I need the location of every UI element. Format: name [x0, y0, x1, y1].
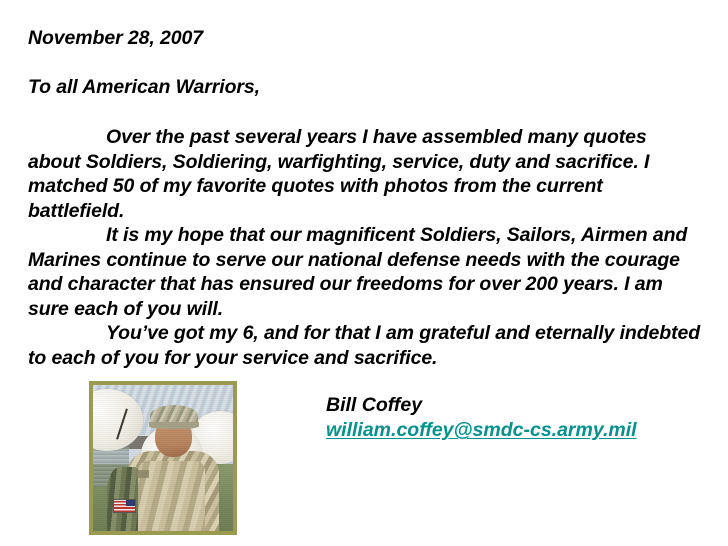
signature-block: Bill Coffey william.coffey@smdc-cs.army.…: [326, 393, 637, 443]
uniform-patch: [135, 470, 149, 479]
letter-salutation: To all American Warriors,: [28, 75, 704, 100]
cap-brim: [149, 422, 199, 429]
letter-paragraph-2: It is my hope that our magnificent Soldi…: [28, 223, 704, 321]
signature-name: Bill Coffey: [326, 393, 637, 418]
us-flag-patch-icon: [113, 499, 136, 513]
author-photo: [89, 381, 237, 535]
signature-email-link[interactable]: william.coffey@smdc-cs.army.mil: [326, 418, 637, 443]
letter-paragraph-1: Over the past several years I have assem…: [28, 125, 704, 223]
slide-canvas: November 28, 2007 To all American Warrio…: [0, 0, 728, 546]
photo-image: [93, 385, 233, 531]
letter-paragraph-3: You’ve got my 6, and for that I am grate…: [28, 321, 704, 370]
letter-body: November 28, 2007 To all American Warrio…: [28, 26, 704, 370]
letter-date: November 28, 2007: [28, 26, 704, 51]
